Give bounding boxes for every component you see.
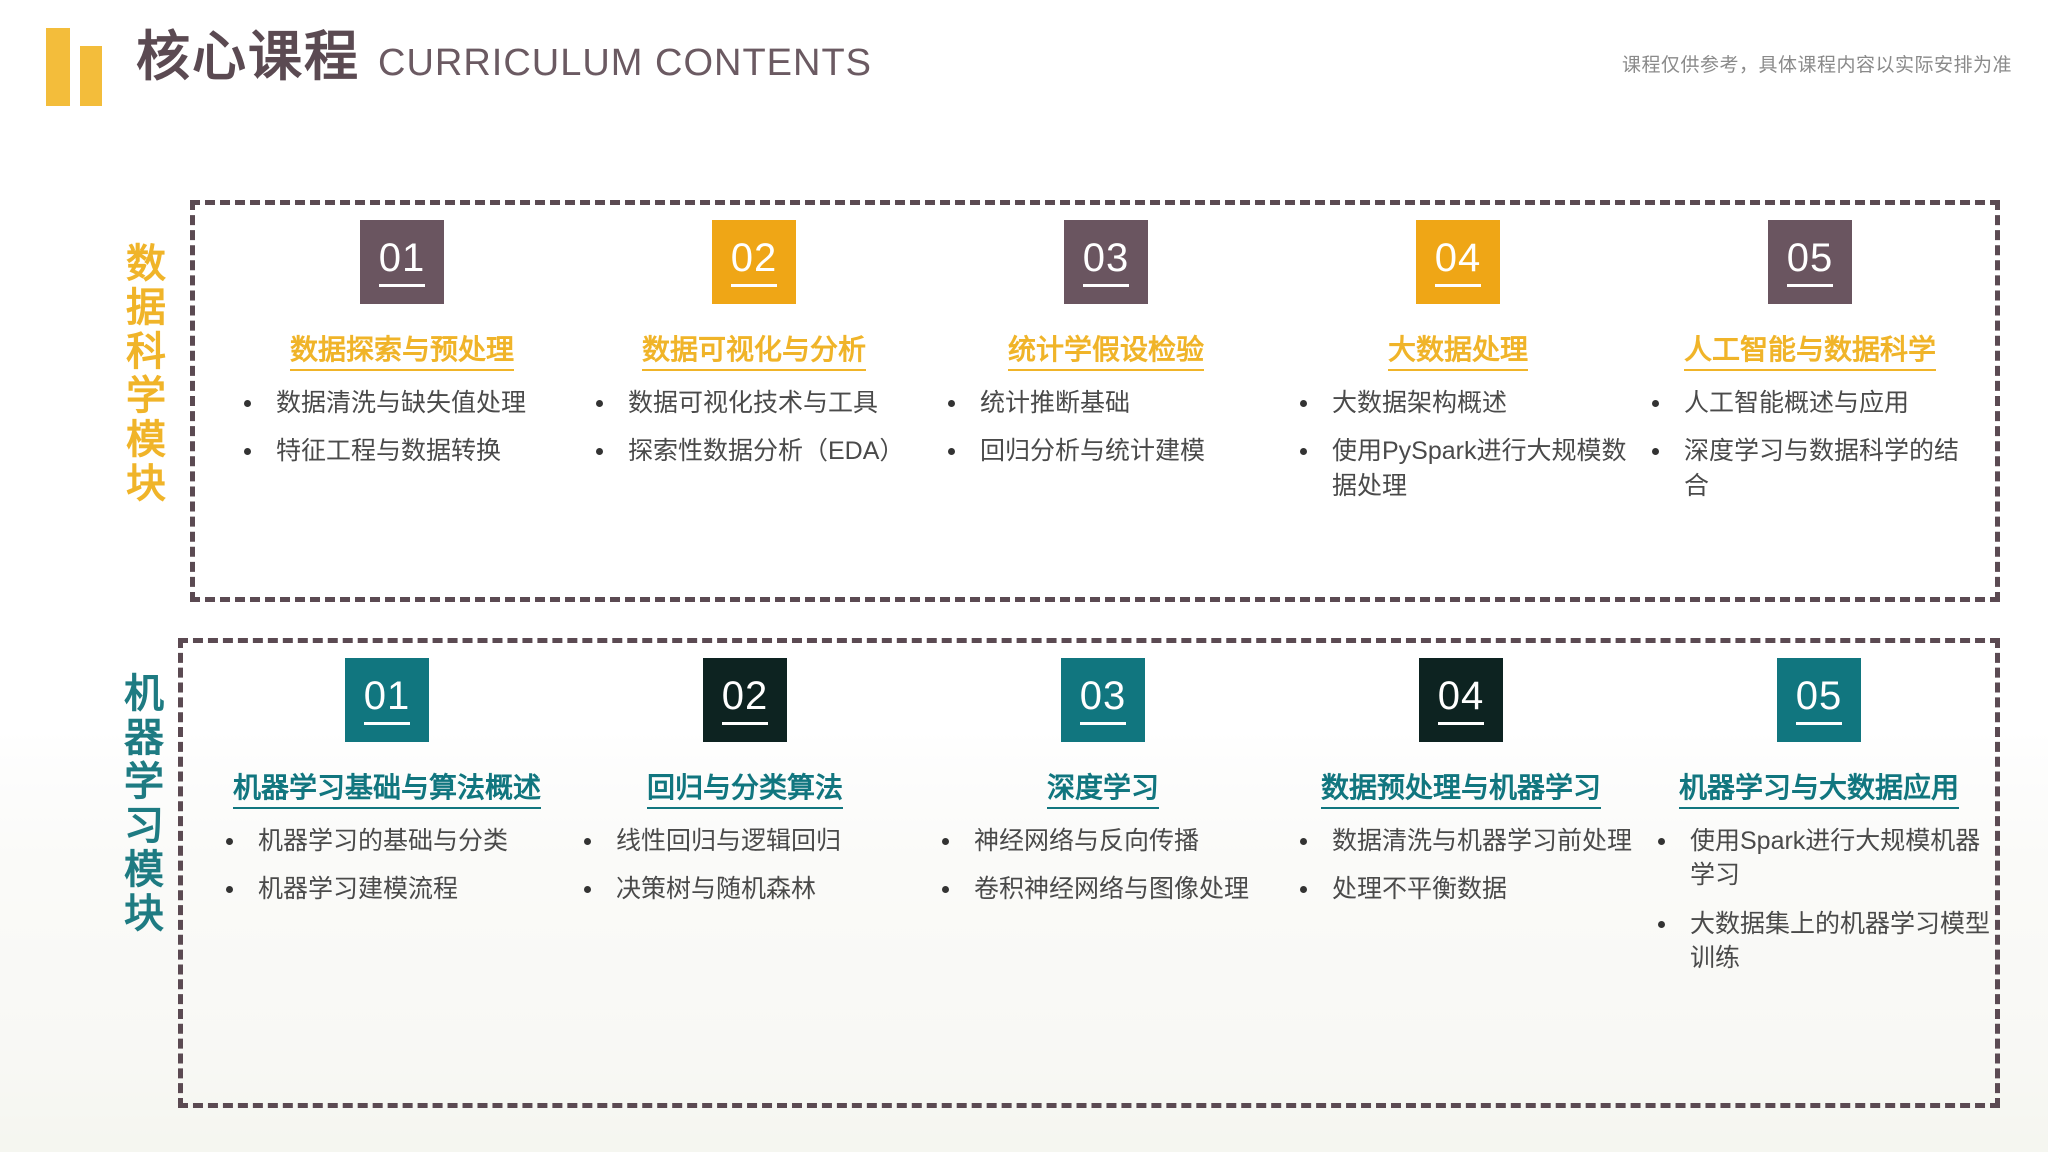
card-title: 统计学假设检验 (934, 332, 1278, 372)
card-bullet: 深度学习与数据科学的结合 (1638, 434, 1982, 503)
card-bullet: 处理不平衡数据 (1286, 872, 1636, 907)
card-number-badge: 03 (1061, 658, 1145, 742)
card-number: 03 (1080, 676, 1127, 725)
card-title: 数据可视化与分析 (582, 332, 926, 372)
card-title: 回归与分类算法 (570, 770, 920, 810)
card-bullet: 决策树与随机森林 (570, 872, 920, 907)
card-number-badge: 03 (1064, 220, 1148, 304)
card-number-badge: 05 (1777, 658, 1861, 742)
course-card[interactable]: 03 深度学习 神经网络与反向传播 卷积神经网络与图像处理 (928, 658, 1286, 990)
card-number-badge: 05 (1768, 220, 1852, 304)
card-bullet: 机器学习的基础与分类 (212, 824, 562, 859)
card-bullet: 回归分析与统计建模 (934, 434, 1278, 469)
page-title-group: 核心课程 CURRICULUM CONTENTS (136, 30, 872, 84)
card-number: 01 (379, 238, 426, 287)
card-bullet-list: 使用Spark进行大规模机器学习 大数据集上的机器学习模型训练 (1644, 824, 1994, 976)
card-number: 04 (1435, 238, 1482, 287)
card-bullet-list: 大数据架构概述 使用PySpark进行大规模数据处理 (1286, 386, 1630, 504)
course-card[interactable]: 01 数据探索与预处理 数据清洗与缺失值处理 特征工程与数据转换 (230, 220, 582, 517)
module-label-machine-learning: 机器学习模块 (104, 672, 162, 936)
page-title-en: CURRICULUM CONTENTS (378, 44, 872, 82)
card-title: 人工智能与数据科学 (1638, 332, 1982, 372)
card-title: 数据探索与预处理 (230, 332, 574, 372)
course-card[interactable]: 02 回归与分类算法 线性回归与逻辑回归 决策树与随机森林 (570, 658, 928, 990)
course-card[interactable]: 04 大数据处理 大数据架构概述 使用PySpark进行大规模数据处理 (1286, 220, 1638, 517)
card-bullet-list: 人工智能概述与应用 深度学习与数据科学的结合 (1638, 386, 1982, 504)
card-bullet: 统计推断基础 (934, 386, 1278, 421)
page-header: 核心课程 CURRICULUM CONTENTS 课程仅供参考，具体课程内容以实… (0, 0, 2048, 150)
card-title: 机器学习基础与算法概述 (212, 770, 562, 810)
logo-bars-icon (46, 28, 108, 106)
card-bullet: 大数据集上的机器学习模型训练 (1644, 907, 1994, 976)
course-card[interactable]: 05 人工智能与数据科学 人工智能概述与应用 深度学习与数据科学的结合 (1638, 220, 1990, 517)
card-number: 05 (1796, 676, 1843, 725)
disclaimer-note: 课程仅供参考，具体课程内容以实际安排为准 (1622, 50, 2012, 77)
card-title: 数据预处理与机器学习 (1286, 770, 1636, 810)
card-bullet: 数据可视化技术与工具 (582, 386, 926, 421)
card-number-badge: 04 (1416, 220, 1500, 304)
logo-bar-tall (46, 28, 70, 106)
course-card[interactable]: 03 统计学假设检验 统计推断基础 回归分析与统计建模 (934, 220, 1286, 517)
page-title-cn: 核心课程 (136, 30, 360, 84)
card-bullet-list: 机器学习的基础与分类 机器学习建模流程 (212, 824, 562, 907)
module-section-data-science: 数据科学模块 01 数据探索与预处理 数据清洗与缺失值处理 特征工程与数据转换 … (0, 190, 2048, 610)
card-bullet-list: 统计推断基础 回归分析与统计建模 (934, 386, 1278, 469)
card-bullet: 使用PySpark进行大规模数据处理 (1286, 434, 1630, 503)
card-number-badge: 01 (360, 220, 444, 304)
card-number-badge: 04 (1419, 658, 1503, 742)
card-number: 02 (731, 238, 778, 287)
course-card[interactable]: 01 机器学习基础与算法概述 机器学习的基础与分类 机器学习建模流程 (212, 658, 570, 990)
card-bullet-list: 神经网络与反向传播 卷积神经网络与图像处理 (928, 824, 1278, 907)
card-bullet: 数据清洗与缺失值处理 (230, 386, 574, 421)
card-bullet: 探索性数据分析（EDA） (582, 434, 926, 469)
card-list-machine-learning: 01 机器学习基础与算法概述 机器学习的基础与分类 机器学习建模流程 02 回归… (212, 658, 2002, 990)
card-list-data-science: 01 数据探索与预处理 数据清洗与缺失值处理 特征工程与数据转换 02 数据可视… (230, 220, 1990, 517)
course-card[interactable]: 04 数据预处理与机器学习 数据清洗与机器学习前处理 处理不平衡数据 (1286, 658, 1644, 990)
card-number-badge: 02 (712, 220, 796, 304)
card-number-badge: 02 (703, 658, 787, 742)
card-title: 深度学习 (928, 770, 1278, 810)
course-card[interactable]: 02 数据可视化与分析 数据可视化技术与工具 探索性数据分析（EDA） (582, 220, 934, 517)
card-title: 大数据处理 (1286, 332, 1630, 372)
card-bullet: 使用Spark进行大规模机器学习 (1644, 824, 1994, 893)
module-label-data-science: 数据科学模块 (106, 242, 164, 506)
card-bullet: 卷积神经网络与图像处理 (928, 872, 1278, 907)
card-bullet: 机器学习建模流程 (212, 872, 562, 907)
module-section-machine-learning: 机器学习模块 01 机器学习基础与算法概述 机器学习的基础与分类 机器学习建模流… (0, 632, 2048, 1112)
card-bullet-list: 数据清洗与机器学习前处理 处理不平衡数据 (1286, 824, 1636, 907)
card-number: 02 (722, 676, 769, 725)
card-bullet: 人工智能概述与应用 (1638, 386, 1982, 421)
card-number-badge: 01 (345, 658, 429, 742)
card-bullet-list: 数据可视化技术与工具 探索性数据分析（EDA） (582, 386, 926, 469)
card-number: 03 (1083, 238, 1130, 287)
card-bullet: 线性回归与逻辑回归 (570, 824, 920, 859)
card-number: 05 (1787, 238, 1834, 287)
card-bullet-list: 线性回归与逻辑回归 决策树与随机森林 (570, 824, 920, 907)
card-bullet-list: 数据清洗与缺失值处理 特征工程与数据转换 (230, 386, 574, 469)
card-bullet: 大数据架构概述 (1286, 386, 1630, 421)
card-bullet: 数据清洗与机器学习前处理 (1286, 824, 1636, 859)
card-number: 01 (364, 676, 411, 725)
logo-bar-short (80, 46, 102, 106)
card-number: 04 (1438, 676, 1485, 725)
card-bullet: 神经网络与反向传播 (928, 824, 1278, 859)
course-card[interactable]: 05 机器学习与大数据应用 使用Spark进行大规模机器学习 大数据集上的机器学… (1644, 658, 2002, 990)
card-title: 机器学习与大数据应用 (1644, 770, 1994, 810)
card-bullet: 特征工程与数据转换 (230, 434, 574, 469)
